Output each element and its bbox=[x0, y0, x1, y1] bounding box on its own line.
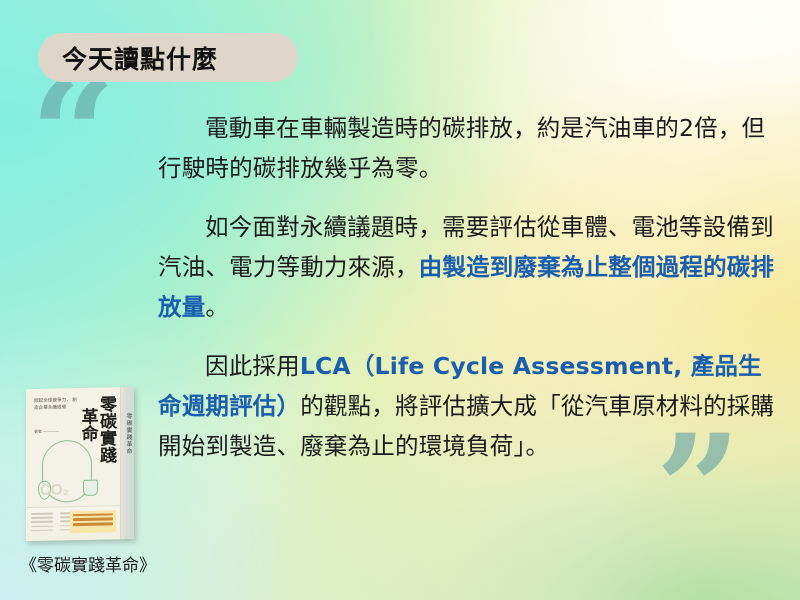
book-cover-title-line1: 零碳實踐 bbox=[97, 395, 114, 463]
book-cover-image: 掀起全球競爭力， 創造企業永續經營 著者 ———— 零碳實踐 革命 CO₂ 零碳… bbox=[26, 387, 134, 541]
book-spine-text: 零碳實踐革命 bbox=[124, 413, 133, 455]
book-caption: 《零碳實踐革命》 bbox=[20, 551, 146, 576]
page-title: 今天讀點什麼 bbox=[62, 40, 218, 76]
body-copy: 電動車在車輛製造時的碳排放，約是汽油車的2倍，但行駛時的碳排放幾乎為零。 如今面… bbox=[158, 108, 778, 466]
book-spine: 零碳實踐革命 bbox=[120, 387, 134, 539]
paragraph-2: 如今面對永續議題時，需要評估從車體、電池等設備到汽油、電力等動力來源，由製造到廢… bbox=[158, 207, 778, 327]
paragraph-1: 電動車在車輛製造時的碳排放，約是汽油車的2倍，但行駛時的碳排放幾乎為零。 bbox=[158, 108, 778, 188]
paragraph-3: 因此採用LCA（Life Cycle Assessment, 產品生命週期評估）… bbox=[158, 346, 778, 466]
column-1 bbox=[31, 513, 53, 534]
book-figure: 掀起全球競爭力， 創造企業永續經營 著者 ———— 零碳實踐 革命 CO₂ 零碳… bbox=[20, 388, 146, 576]
book-cover-author: 著者 ———— bbox=[34, 428, 80, 435]
slide-canvas: “ ” 今天讀點什麼 電動車在車輛製造時的碳排放，約是汽油車的2倍，但行駛時的碳… bbox=[0, 0, 800, 600]
paragraph-1-text: 電動車在車輛製造時的碳排放，約是汽油車的2倍，但行駛時的碳排放幾乎為零。 bbox=[158, 114, 765, 182]
book-cover-bottom-band bbox=[26, 505, 134, 541]
co2-label: CO₂ bbox=[40, 481, 69, 499]
plug-icon bbox=[83, 480, 98, 496]
book-cover-ribbon bbox=[70, 510, 116, 533]
paragraph-3-text-lead: 因此採用 bbox=[205, 352, 300, 380]
book-cover-subtitle: 掀起全球競爭力， 創造企業永續經營 bbox=[34, 397, 78, 412]
title-badge: 今天讀點什麼 bbox=[38, 33, 298, 82]
opening-quote-icon: “ bbox=[30, 60, 116, 210]
paragraph-2-text-tail: 。 bbox=[205, 293, 229, 321]
